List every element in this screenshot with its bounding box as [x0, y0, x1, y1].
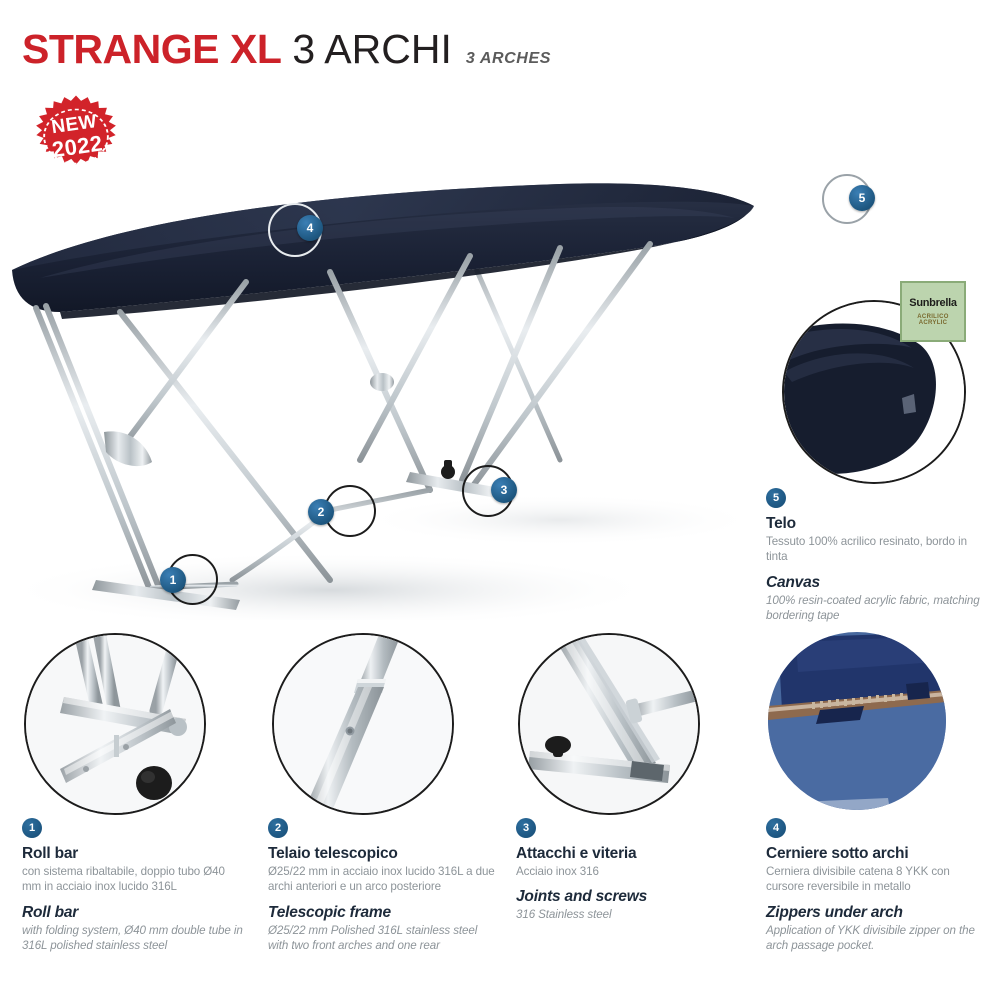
- caption-block-2: 2 Telaio telescopico Ø25/22 mm in acciai…: [268, 818, 496, 953]
- caption-number-5: 5: [766, 488, 786, 508]
- caption-title-en-5: Canvas: [766, 574, 981, 592]
- detail-photo-telescopic: [272, 633, 454, 815]
- caption-block-1: 1 Roll bar con sistema ribaltabile, dopp…: [22, 818, 244, 953]
- caption-body-it-3: Acciaio inox 316: [516, 864, 738, 879]
- catalog-page: STRANGE XL 3 ARCHI 3 ARCHES NEW 2022: [0, 0, 1000, 1000]
- roll-bar-hinge-photo: [26, 635, 204, 813]
- zipper-under-arch-photo: [768, 632, 946, 810]
- caption-body-it-5: Tessuto 100% acrilico resinato, bordo in…: [766, 534, 981, 565]
- caption-number-1: 1: [22, 818, 42, 838]
- sunbrella-acrylic-label: ACRYLIC: [919, 320, 948, 326]
- caption-body-en-1: with folding system, Ø40 mm double tube …: [22, 923, 244, 954]
- joints-screws-photo: [520, 635, 698, 813]
- caption-title-en-1: Roll bar: [22, 904, 244, 922]
- title-model: XL: [230, 26, 281, 73]
- caption-title-it-5: Telo: [766, 515, 981, 533]
- title-subtitle: 3 ARCHES: [466, 50, 551, 68]
- caption-block-5: 5 Telo Tessuto 100% acrilico resinato, b…: [766, 488, 981, 623]
- callout-marker-1[interactable]: 1: [160, 567, 186, 593]
- hero-product-image: 4 5 1 2 3: [0, 160, 770, 620]
- detail-photo-joints: [518, 633, 700, 815]
- caption-body-it-4: Cerniera divisibile catena 8 YKK con cur…: [766, 864, 988, 895]
- callout-marker-5[interactable]: 5: [849, 185, 875, 211]
- caption-block-3: 3 Attacchi e viteria Acciaio inox 316 Jo…: [516, 818, 738, 923]
- title-brand: STRANGE: [22, 26, 219, 73]
- caption-body-en-4: Application of YKK divisibile zipper on …: [766, 923, 988, 954]
- caption-body-it-2: Ø25/22 mm in acciaio inox lucido 316L a …: [268, 864, 496, 895]
- callout-marker-3[interactable]: 3: [491, 477, 517, 503]
- detail-photo-zipper: [768, 632, 946, 810]
- caption-body-en-2: Ø25/22 mm Polished 316L stainless steel …: [268, 923, 496, 954]
- caption-title-it-4: Cerniere sotto archi: [766, 845, 988, 863]
- caption-body-it-1: con sistema ribaltabile, doppio tubo Ø40…: [22, 864, 244, 895]
- page-title: STRANGE XL 3 ARCHI 3 ARCHES: [22, 26, 551, 73]
- caption-number-3: 3: [516, 818, 536, 838]
- caption-title-it-2: Telaio telescopico: [268, 845, 496, 863]
- caption-body-en-3: 316 Stainless steel: [516, 907, 738, 922]
- caption-block-4: 4 Cerniere sotto archi Cerniera divisibi…: [766, 818, 988, 953]
- caption-number-4: 4: [766, 818, 786, 838]
- new-badge-line2: 2022: [51, 132, 105, 161]
- bimini-top-illustration: [0, 160, 770, 620]
- title-arches: 3 ARCHI: [292, 26, 452, 73]
- caption-title-en-4: Zippers under arch: [766, 904, 988, 922]
- sunbrella-name: Sunbrella: [909, 297, 956, 309]
- detail-photo-roll-bar: [24, 633, 206, 815]
- caption-title-it-3: Attacchi e viteria: [516, 845, 738, 863]
- callout-marker-4[interactable]: 4: [297, 215, 323, 241]
- telescopic-tube-photo: [274, 635, 452, 813]
- caption-title-it-1: Roll bar: [22, 845, 244, 863]
- callout-marker-2[interactable]: 2: [308, 499, 334, 525]
- caption-title-en-2: Telescopic frame: [268, 904, 496, 922]
- sunbrella-fabric-badge: Sunbrella ACRILICO ACRYLIC: [900, 281, 966, 342]
- caption-body-en-5: 100% resin-coated acrylic fabric, matchi…: [766, 593, 981, 624]
- caption-number-2: 2: [268, 818, 288, 838]
- caption-title-en-3: Joints and screws: [516, 888, 738, 906]
